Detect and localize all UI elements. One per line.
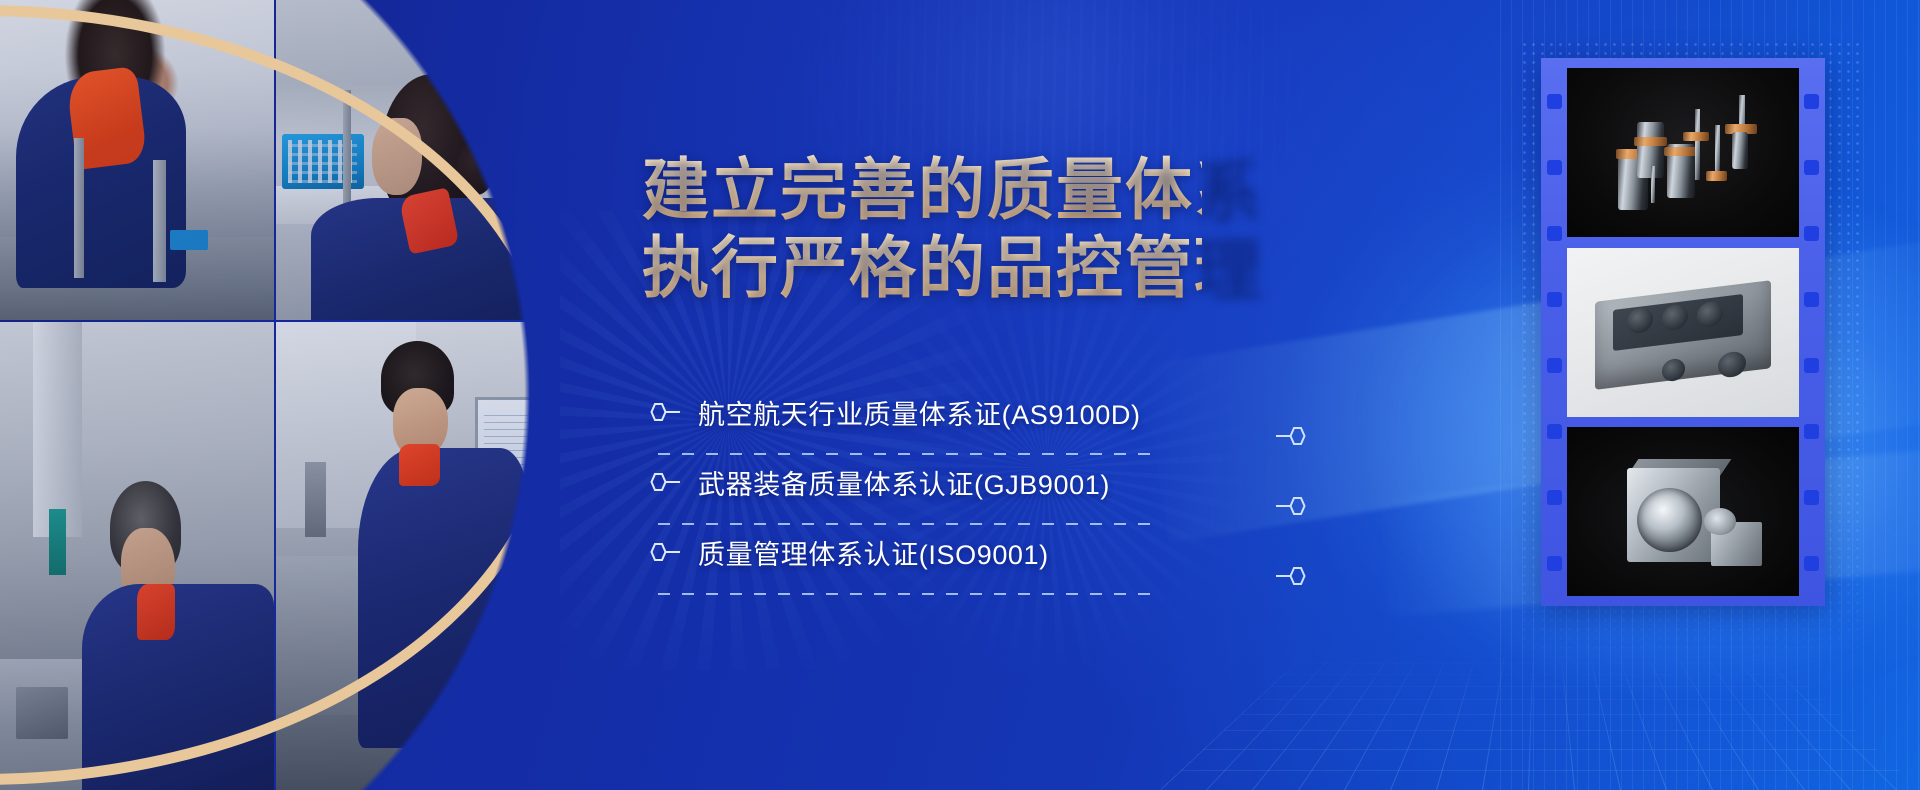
- hexagon-bullet-icon: [648, 541, 682, 563]
- product-part: [1732, 132, 1748, 169]
- perforation-hole: [1804, 556, 1819, 571]
- product-image-aluminum-bearing-block[interactable]: [1567, 427, 1799, 596]
- perforation-hole: [1547, 292, 1562, 307]
- operator-hair: [381, 74, 480, 221]
- photo-operator-at-inspection-bench: [276, 0, 568, 320]
- perforation-hole: [1547, 424, 1562, 439]
- perforation-hole: [1547, 226, 1562, 241]
- shop-floor: [276, 715, 568, 790]
- copper-ring: [1634, 137, 1666, 145]
- hexagon-bullet-icon: [648, 471, 682, 493]
- certification-divider: [658, 593, 1158, 595]
- work-coat: [82, 584, 274, 790]
- filmstrip-perforations-right: [1804, 68, 1819, 596]
- headline-line-1: 建立完善的质量体系: [642, 152, 1202, 230]
- bench-surface: [276, 186, 393, 224]
- hexagon-endcap-icon: [1274, 495, 1308, 517]
- perforation-hole: [1804, 424, 1819, 439]
- headline-line-2: 执行严格的品控管理: [642, 230, 1202, 308]
- certification-row: 航空航天行业质量体系证(AS9100D): [648, 385, 1188, 455]
- copper-ring: [1664, 147, 1696, 155]
- gauge-column-secondary: [153, 160, 165, 282]
- certification-item[interactable]: 质量管理体系认证(ISO9001): [648, 525, 1188, 579]
- perforation-hole: [1804, 292, 1819, 307]
- certification-item[interactable]: 武器装备质量体系认证(GJB9001): [648, 455, 1188, 509]
- cnc-spindle: [305, 462, 325, 537]
- red-collar: [399, 187, 460, 254]
- certification-row: 质量管理体系认证(ISO9001): [648, 525, 1188, 595]
- photo-operator-at-cnc-machine: [276, 322, 568, 790]
- blue-parts-tray: [282, 134, 364, 188]
- cnc-control-screen: [475, 397, 563, 565]
- operator-hair-bun: [457, 141, 495, 195]
- engineer-face: [121, 528, 176, 612]
- perforation-hole: [1547, 160, 1562, 175]
- operator-face: [372, 118, 422, 195]
- certification-label: 武器装备质量体系认证(GJB9001): [698, 463, 1110, 502]
- perforation-hole: [1547, 490, 1562, 505]
- perforation-hole: [1804, 358, 1819, 373]
- gauge-column: [74, 138, 84, 279]
- filmstrip-frames: [1567, 68, 1799, 596]
- photo-collage: [0, 0, 700, 790]
- red-collar: [137, 584, 175, 640]
- hexagon-bullet-icon: [648, 401, 682, 423]
- hexagon-endcap-icon: [1274, 565, 1308, 587]
- machine-chip-trough: [276, 556, 410, 715]
- product-shaft: [1715, 125, 1720, 176]
- perforation-hole: [1547, 358, 1562, 373]
- copper-ring: [1706, 171, 1727, 181]
- product-image-machined-aluminum-housing[interactable]: [1567, 248, 1799, 417]
- filmstrip-perforations-left: [1547, 68, 1562, 596]
- granite-table: [0, 659, 274, 790]
- work-coat: [16, 77, 186, 288]
- perforation-hole: [1804, 160, 1819, 175]
- engineer-hair: [110, 481, 181, 575]
- certification-label: 质量管理体系认证(ISO9001): [698, 533, 1049, 572]
- certification-label: 航空航天行业质量体系证(AS9100D): [698, 393, 1141, 432]
- perforation-hole: [1547, 94, 1562, 109]
- work-coat: [311, 198, 550, 320]
- machined-part: [16, 687, 68, 738]
- perforation-hole: [1804, 490, 1819, 505]
- product-image-turned-steel-copper-components[interactable]: [1567, 68, 1799, 237]
- operator-hair: [381, 341, 454, 416]
- cmm-column: [33, 322, 82, 537]
- certification-row: 武器装备质量体系认证(GJB9001): [648, 455, 1188, 525]
- certification-list: 航空航天行业质量体系证(AS9100D) 武器装备质量体系认证(GJB9001): [648, 385, 1188, 595]
- certification-item[interactable]: 航空航天行业质量体系证(AS9100D): [648, 385, 1188, 439]
- blue-fixture-block: [170, 230, 208, 249]
- perforation-hole: [1547, 556, 1562, 571]
- photo-engineer-at-cmm-machine: [0, 322, 274, 790]
- headline-block: 建立完善的质量体系 执行严格的品控管理: [642, 152, 1202, 308]
- operator-face: [393, 388, 448, 458]
- product-shaft: [1651, 166, 1656, 203]
- product-filmstrip: [1541, 58, 1825, 606]
- hexagon-endcap-icon: [1274, 425, 1308, 447]
- work-coat: [358, 448, 527, 748]
- orange-collar: [66, 66, 148, 170]
- measuring-stand-rod: [343, 90, 351, 205]
- perforation-hole: [1804, 94, 1819, 109]
- cnc-machine-housing: [276, 322, 416, 528]
- photo-inspector-with-height-gauge: [0, 0, 274, 320]
- bearing-bore: [1637, 488, 1702, 552]
- workbench-surface: [0, 237, 274, 320]
- quality-system-banner: 建立完善的质量体系 执行严格的品控管理 航空航天行业质量体系证(AS9100D): [0, 0, 1920, 790]
- perforation-hole: [1804, 226, 1819, 241]
- cmm-probe: [49, 509, 65, 575]
- red-collar: [399, 444, 440, 486]
- copper-ring: [1683, 132, 1709, 140]
- product-shaft: [1695, 109, 1701, 180]
